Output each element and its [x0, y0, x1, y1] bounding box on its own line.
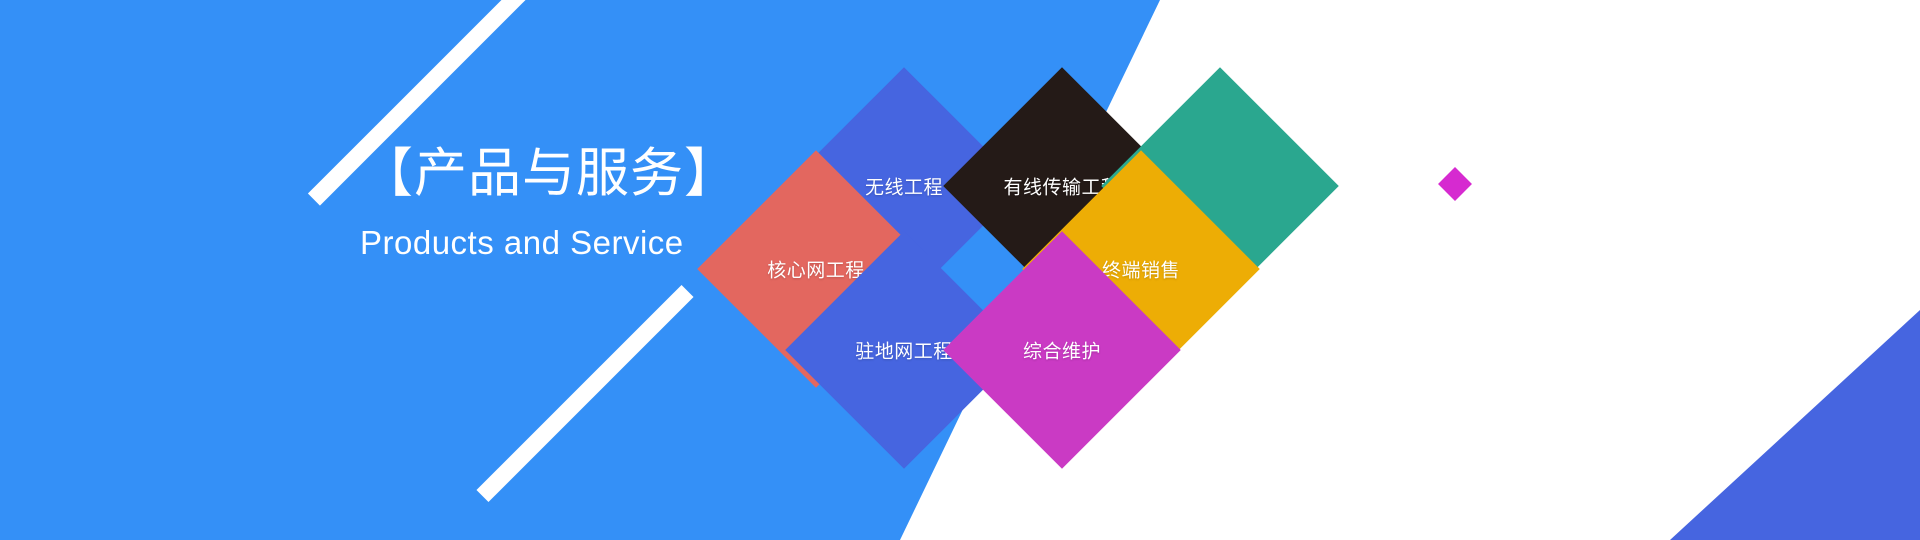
- diamond-tile-label: 终端销售: [1102, 256, 1180, 283]
- title-chinese: 【产品与服务】: [360, 140, 738, 208]
- title-english: Products and Service: [360, 220, 738, 266]
- product-service-banner: 【产品与服务】 Products and Service 无线工程有线传输工程核…: [0, 0, 1920, 540]
- diamond-tile-label: 驻地网工程: [855, 337, 953, 364]
- mini-diamond-decoration: [1438, 167, 1472, 201]
- page-title: 【产品与服务】 Products and Service: [360, 140, 738, 266]
- corner-wedge-shape: [1560, 310, 1920, 540]
- diamond-tile-label: 核心网工程: [767, 256, 865, 283]
- diamond-tile-label: 综合维护: [1023, 337, 1101, 364]
- blue-background-panel: [0, 0, 1160, 540]
- diamond-tile-label: 无线工程: [865, 173, 943, 200]
